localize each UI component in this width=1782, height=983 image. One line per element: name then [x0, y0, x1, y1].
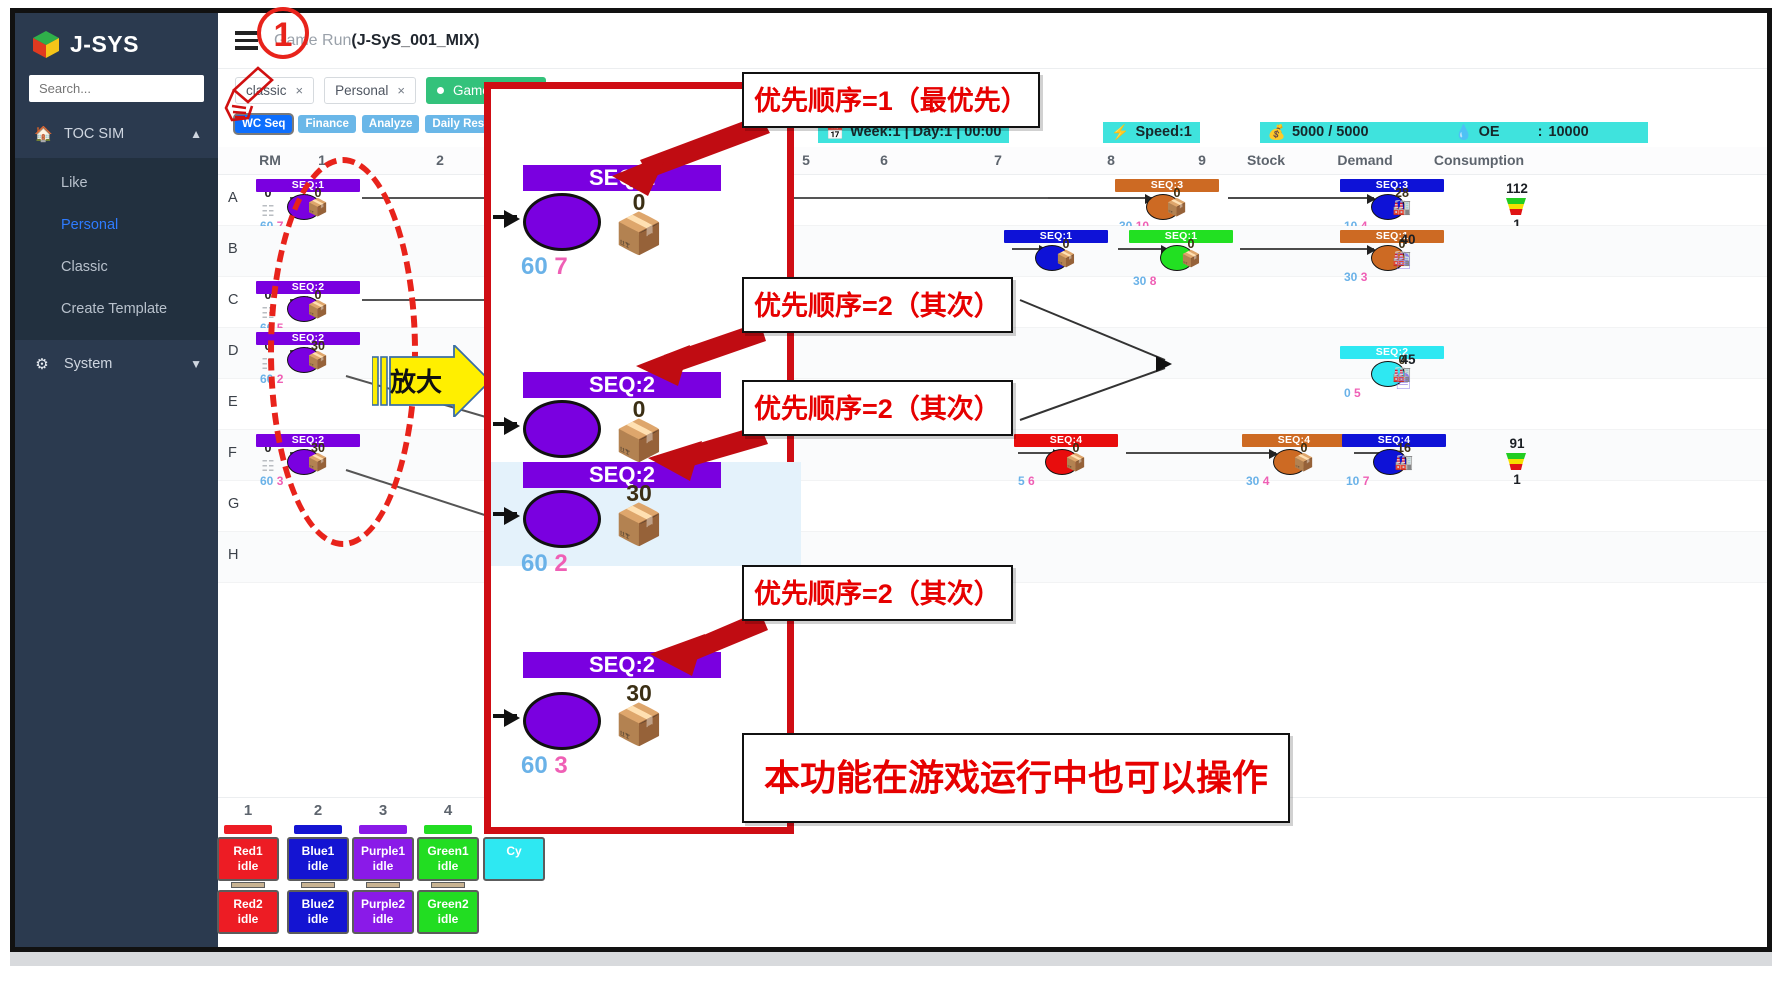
- stock-count: 28: [1388, 188, 1416, 198]
- node-a7[interactable]: SEQ:3 30 10 0 📦: [1129, 179, 1233, 220]
- box-icon: 📦: [1166, 198, 1187, 217]
- flow-arrow: [1228, 197, 1374, 199]
- coin-icon: 💰: [1268, 124, 1286, 141]
- dock-cap-1: [224, 825, 272, 834]
- status-money-oe: 💰 5000 / 5000 💧 OE : 10000: [1260, 122, 1648, 143]
- col-header-2: 2: [436, 152, 444, 168]
- brand-name: J-SYS: [70, 31, 139, 58]
- wip-box: 0 📦: [304, 290, 332, 320]
- status-oe-sep: :: [1538, 124, 1543, 140]
- topbar: Game Run(J-SyS_001_MIX): [218, 13, 1767, 69]
- status-strip: 📅 Week:1 | Day:1 | 00:00 ⚡ Speed:1 💰 500…: [818, 119, 1767, 145]
- node-b6[interactable]: SEQ:1 0 📦: [1018, 230, 1122, 271]
- table-row[interactable]: B SEQ:1 0 📦 SEQ:1: [218, 226, 1767, 277]
- row-label-c: C: [228, 292, 238, 308]
- wip-count: 0: [304, 290, 332, 300]
- box-icon: 📦: [1293, 453, 1314, 472]
- consumption-value: 91: [1509, 436, 1524, 451]
- page-title-prefix: Game Run: [274, 32, 351, 49]
- col-header-1: 1: [318, 152, 326, 168]
- sidebar-item-classic[interactable]: Classic: [15, 246, 218, 288]
- machine-state: idle: [438, 859, 459, 873]
- col-header-7: 7: [994, 152, 1002, 168]
- wip-count: 0: [1062, 443, 1090, 453]
- wip-count: 0: [1290, 443, 1318, 453]
- row-label-e: E: [228, 394, 238, 410]
- machine-state: idle: [308, 912, 329, 926]
- machine-state: idle: [373, 912, 394, 926]
- tab-game-run[interactable]: Game Run ×: [426, 77, 546, 104]
- box-icon: 📦: [307, 300, 328, 319]
- dock-number-2: 2: [314, 802, 322, 819]
- table-row[interactable]: G: [218, 481, 1767, 532]
- window-shadow: [10, 952, 1772, 966]
- table-row[interactable]: F 0 ☷ SEQ:2 60 3: [218, 430, 1767, 481]
- active-dot-icon: [437, 87, 444, 94]
- col-header-demand: Demand: [1337, 152, 1392, 168]
- machine-foot: [366, 882, 400, 888]
- status-speed: ⚡ Speed:1: [1103, 122, 1199, 143]
- col-header-5: 5: [802, 152, 810, 168]
- gear-icon: ⚙: [34, 355, 50, 373]
- node-f5[interactable]: SEQ:4 5 6 0 📦: [1028, 434, 1132, 475]
- machine-card-green2[interactable]: Green2 idle: [417, 890, 479, 934]
- box-icon: 📦: [307, 198, 328, 217]
- machine-card-purple1[interactable]: Purple1 idle: [352, 837, 414, 881]
- dock-number-1: 1: [244, 802, 252, 819]
- flow-line: [362, 197, 1048, 199]
- wip-count: 0: [1177, 239, 1205, 249]
- machine-foot: [431, 882, 465, 888]
- row-label-d: D: [228, 343, 238, 359]
- machine-name: Purple1: [361, 844, 405, 858]
- brand-logo: J-SYS: [15, 13, 218, 75]
- chip-finance[interactable]: Finance: [298, 115, 355, 133]
- search-input[interactable]: [37, 80, 217, 97]
- sidebar-group-label: TOC SIM: [64, 126, 124, 142]
- box-icon: 📦: [1065, 453, 1086, 472]
- table-row[interactable]: A 0 ☷ SEQ:1 60 7: [218, 175, 1767, 226]
- tab-personal[interactable]: Personal ×: [324, 77, 416, 104]
- col-header-4: 4: [692, 152, 700, 168]
- stock-box: 16 🏭: [1390, 443, 1418, 472]
- wip-box: 30 📦: [304, 341, 332, 371]
- flow-line: [362, 299, 512, 301]
- col-header-consumption: Consumption: [1434, 152, 1524, 168]
- stock-count: 16: [1390, 443, 1418, 453]
- machine-state: idle: [238, 859, 259, 873]
- col-header-9: 9: [1198, 152, 1206, 168]
- col-header-3: 3: [580, 152, 588, 168]
- machine-name: Blue2: [302, 897, 335, 911]
- dock-cap-3: [359, 825, 407, 834]
- sidebar-group-system[interactable]: ⚙ System ▼: [15, 340, 218, 388]
- machine-name: Red2: [233, 897, 262, 911]
- machine-card-blue1[interactable]: Blue1 idle: [287, 837, 349, 881]
- close-icon[interactable]: ×: [397, 83, 405, 98]
- wip-count: 0: [304, 188, 332, 198]
- app-window: J-SYS 🔍 🏠 TOC SIM ▲ Like Personal Classi…: [10, 8, 1772, 952]
- table-row[interactable]: E: [218, 379, 1767, 430]
- node-b7[interactable]: SEQ:1 30 8 0 📦: [1143, 230, 1247, 271]
- wip-box: 0 📦: [1052, 239, 1080, 269]
- sidebar: J-SYS 🔍 🏠 TOC SIM ▲ Like Personal Classi…: [15, 13, 218, 947]
- wip-box: 30 📦: [304, 443, 332, 473]
- machine-foot: [231, 882, 265, 888]
- machine-state: idle: [238, 912, 259, 926]
- box-icon: 📦: [1056, 251, 1076, 268]
- flow-arrow: [1126, 452, 1276, 454]
- machine-card-green1[interactable]: Green1 idle: [417, 837, 479, 881]
- dock-number-5: 5: [510, 802, 518, 819]
- close-icon[interactable]: ×: [296, 83, 304, 98]
- wip-box: 0 📦: [1163, 188, 1191, 218]
- chevron-up-icon[interactable]: ▲: [190, 127, 202, 141]
- dock-number-3: 3: [379, 802, 387, 819]
- sidebar-item-like[interactable]: Like: [15, 162, 218, 204]
- wip-count: 0: [1163, 188, 1191, 198]
- machine-foot: [301, 882, 335, 888]
- search-box[interactable]: 🔍: [29, 75, 204, 102]
- tab-classic[interactable]: classic ×: [235, 77, 314, 104]
- status-oe-label: OE: [1479, 124, 1500, 140]
- tab-label: Personal: [335, 83, 388, 98]
- machine-name: Cy: [506, 844, 521, 858]
- machine-state: idle: [308, 859, 329, 873]
- table-row[interactable]: C 0 ☷ SEQ:2 60 5: [218, 277, 1767, 328]
- sidebar-group-label-system: System: [64, 356, 112, 372]
- machine-name: Purple2: [361, 897, 405, 911]
- main-area: Game Run(J-SyS_001_MIX) classic × Person…: [218, 13, 1767, 947]
- machine-name: Blue1: [302, 844, 335, 858]
- row-label-f: F: [228, 445, 237, 461]
- status-speed-text: Speed:1: [1135, 124, 1191, 140]
- calendar-icon: 📅: [826, 124, 844, 141]
- node-a9[interactable]: SEQ:3 10 4 28 🏭: [1354, 179, 1458, 220]
- node-f1[interactable]: SEQ:2 60 3 30 📦: [270, 434, 374, 475]
- machine-name: Green2: [427, 897, 468, 911]
- machine-dock: 1 2 3 4 5 Red1 idle Blue1: [218, 797, 1767, 947]
- dock-cap-5: [490, 825, 538, 834]
- grid-column-headers: RM 1 2 3 4 5 6 7 8 9 Stock Demand Consum…: [218, 147, 1767, 175]
- wip-box: 0 📦: [304, 188, 332, 218]
- wip-box: 0 📦: [1290, 443, 1318, 473]
- node-a1[interactable]: SEQ:1 60 7 0 📦: [270, 179, 374, 220]
- machine-name: Red1: [233, 844, 262, 858]
- page-title-suffix: (J-SyS_001_MIX): [351, 32, 479, 49]
- chevron-down-icon[interactable]: ▼: [190, 357, 202, 371]
- wip-box: 0 📦: [1062, 443, 1090, 473]
- chip-daily-result[interactable]: Daily Result: [425, 115, 505, 133]
- dock-number-4: 4: [444, 802, 452, 819]
- status-clock: 📅 Week:1 | Day:1 | 00:00: [818, 122, 1009, 143]
- status-money-text: 5000 / 5000: [1292, 124, 1369, 140]
- tab-label: classic: [246, 83, 287, 98]
- stock-box: 28 🏭: [1388, 188, 1416, 217]
- machine-name: Green1: [427, 844, 468, 858]
- row-label-g: G: [228, 496, 239, 512]
- cube-icon: [31, 29, 61, 59]
- row-label-h: H: [228, 547, 238, 563]
- warehouse-icon: 🏭: [1393, 199, 1412, 216]
- demand-value: 40: [1400, 232, 1415, 247]
- node-f8[interactable]: SEQ:4 10 7 16 🏭: [1356, 434, 1460, 475]
- machine-state: idle: [438, 912, 459, 926]
- status-oe-value: 10000: [1548, 124, 1588, 140]
- page-title: Game Run(J-SyS_001_MIX): [274, 32, 479, 50]
- sidebar-group-toc-sim[interactable]: 🏠 TOC SIM ▲: [15, 110, 218, 158]
- machine-state: idle: [373, 859, 394, 873]
- sidebar-item-personal[interactable]: Personal: [15, 204, 218, 246]
- tabbar: classic × Personal × Game Run ×: [218, 69, 1767, 111]
- consumption-value: 112: [1506, 181, 1528, 196]
- wc-sequence-grid: RM 1 2 3 4 5 6 7 8 9 Stock Demand Consum…: [218, 147, 1767, 947]
- node-d1[interactable]: SEQ:2 60 2 30 📦: [270, 332, 374, 373]
- machine-card-red2[interactable]: Red2 idle: [217, 890, 279, 934]
- grid-rows: A 0 ☷ SEQ:1 60 7: [218, 175, 1767, 583]
- machine-card-purple2[interactable]: Purple2 idle: [352, 890, 414, 934]
- machine-card-blue2[interactable]: Blue2 idle: [287, 890, 349, 934]
- node-c1[interactable]: SEQ:2 60 5 0 📦: [270, 281, 374, 322]
- bolt-icon: ⚡: [1111, 124, 1129, 141]
- chip-wc-seq[interactable]: WC Seq: [235, 115, 292, 133]
- oil-icon: 💧: [1455, 124, 1473, 141]
- col-header-8: 8: [1107, 152, 1115, 168]
- table-row[interactable]: H: [218, 532, 1767, 583]
- status-clock-text: Week:1 | Day:1 | 00:00: [850, 124, 1001, 140]
- wip-count: 30: [304, 341, 332, 351]
- screenshot-root: J-SYS 🔍 🏠 TOC SIM ▲ Like Personal Classi…: [0, 0, 1782, 983]
- sidebar-submenu: Like Personal Classic Create Template: [15, 158, 218, 340]
- machine-card-cyan1[interactable]: Cy: [483, 837, 545, 881]
- sidebar-item-create-template[interactable]: Create Template: [15, 288, 218, 330]
- order-doc-icon: 🗎: [1396, 250, 1410, 280]
- box-icon: 📦: [1181, 251, 1201, 268]
- row-label-a: A: [228, 190, 238, 206]
- chip-analyze[interactable]: Analyze: [362, 115, 419, 133]
- demand-value: 45: [1400, 352, 1415, 367]
- box-icon: 📦: [307, 351, 328, 370]
- home-icon: 🏠: [34, 125, 50, 143]
- col-header-rm: RM: [259, 152, 281, 168]
- table-row[interactable]: D 0 ☷ SEQ:2 60 2: [218, 328, 1767, 379]
- wip-count: 0: [1052, 239, 1080, 249]
- col-header-6: 6: [880, 152, 888, 168]
- wip-box: 0 📦: [1177, 239, 1205, 269]
- wip-count: 30: [304, 443, 332, 453]
- box-icon: 📦: [307, 453, 328, 472]
- warehouse-icon: 🏭: [1395, 454, 1414, 471]
- tab-label: Game Run: [453, 83, 518, 98]
- dock-cap-4: [424, 825, 472, 834]
- dock-cap-2: [294, 825, 342, 834]
- col-header-stock: Stock: [1247, 152, 1285, 168]
- row-label-b: B: [228, 241, 238, 257]
- hamburger-icon[interactable]: [235, 31, 258, 50]
- close-icon[interactable]: ×: [527, 83, 535, 98]
- chip-info[interactable]: INFO: [511, 115, 552, 133]
- machine-card-red1[interactable]: Red1 idle: [217, 837, 279, 881]
